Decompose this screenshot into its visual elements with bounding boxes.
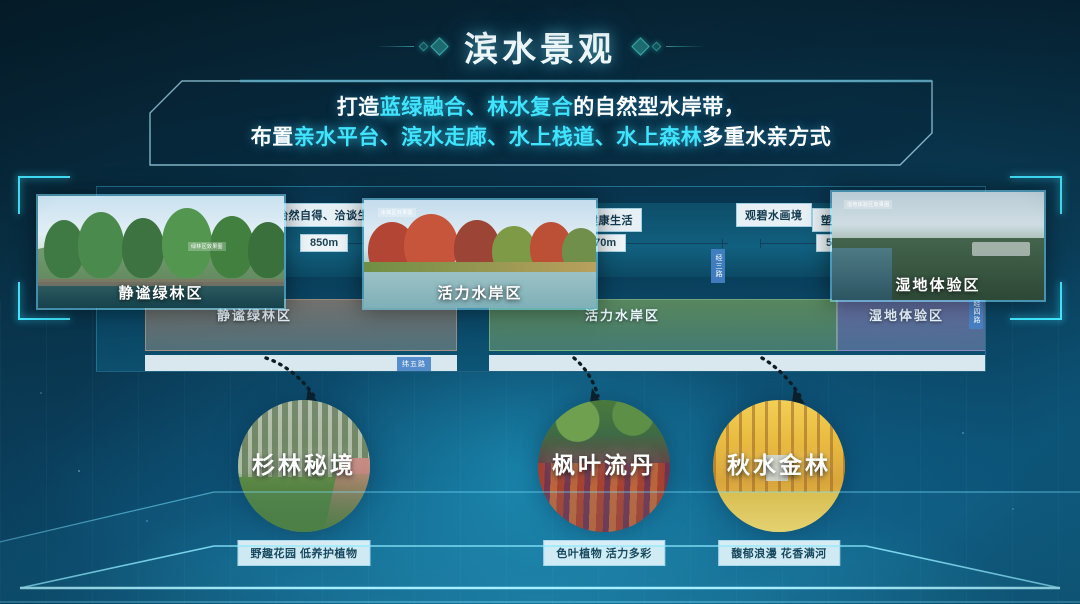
slide-stage: 滨水景观 打造蓝绿融合、林水复合的自然型水岸带， 布置亲水平台、滨水走廊、水上栈… xyxy=(0,0,1080,604)
diamond-icon xyxy=(631,37,649,55)
map-callout-3: 观碧水画境 xyxy=(736,203,812,227)
photo-card-caption: 静谧绿林区 xyxy=(38,282,284,303)
dimension-tick xyxy=(760,239,761,248)
diamond-icon xyxy=(652,41,662,51)
photo-card-green-forest[interactable]: 绿林区效果图 静谧绿林区 xyxy=(36,194,286,310)
feature-circle-title: 枫叶流丹 xyxy=(538,446,670,480)
title-row: 滨水景观 xyxy=(0,24,1080,68)
subtitle-banner: 打造蓝绿融合、林水复合的自然型水岸带， 布置亲水平台、滨水走廊、水上栈道、水上森… xyxy=(148,79,934,167)
map-road-label-weiwulu: 纬五路 xyxy=(397,357,431,371)
photo-watermark: 水岸区效果图 xyxy=(378,208,416,217)
subtitle-l2-highlight: 亲水平台、滨水走廊、水上栈道、水上森林 xyxy=(294,126,703,149)
photo-card-image: 绿林区效果图 静谧绿林区 xyxy=(36,194,286,310)
photo-card-image: 湿地体验区效果图 湿地体验区 xyxy=(830,190,1046,302)
feature-circle-title: 秋水金林 xyxy=(713,446,845,480)
photo-card-wetland[interactable]: 湿地体验区效果图 湿地体验区 xyxy=(830,190,1046,302)
feature-circle-caption: 色叶植物 活力多彩 xyxy=(543,540,665,566)
feature-circle-title: 杉林秘境 xyxy=(238,446,370,480)
dimension-tick xyxy=(722,239,723,248)
subtitle-l1-suffix: 的自然型水岸带， xyxy=(573,96,745,119)
background-speck xyxy=(146,520,148,522)
diamond-icon xyxy=(430,37,448,55)
subtitle-text: 打造蓝绿融合、林水复合的自然型水岸带， 布置亲水平台、滨水走廊、水上栈道、水上森… xyxy=(148,79,934,167)
title-decoration-right xyxy=(634,40,704,53)
subtitle-l2-prefix: 布置 xyxy=(251,126,294,149)
photo-watermark: 湿地体验区效果图 xyxy=(844,200,892,209)
dimension-850m: 850m xyxy=(300,234,348,252)
subtitle-l1-highlight: 蓝绿融合、林水复合 xyxy=(380,96,574,119)
feature-circle-caption: 馥郁浪漫 花香满河 xyxy=(718,540,840,566)
photo-card-caption: 活力水岸区 xyxy=(364,282,596,303)
feature-circle-qiushui[interactable]: 秋水金林 馥郁浪漫 花香满河 xyxy=(713,400,845,532)
map-block-right xyxy=(837,355,986,372)
background-speck xyxy=(962,432,964,434)
photo-card-vibrant-waterfront[interactable]: 水岸区效果图 活力水岸区 xyxy=(362,198,598,310)
feature-circle-fengye[interactable]: 枫叶流丹 色叶植物 活力多彩 xyxy=(538,400,670,532)
background-speck xyxy=(1012,508,1014,510)
diamond-icon xyxy=(419,41,429,51)
map-road-label-jingsanlu: 经三路 xyxy=(711,249,725,283)
photo-watermark: 绿林区效果图 xyxy=(188,242,226,251)
photo-card-caption: 湿地体验区 xyxy=(832,274,1044,295)
map-zone-label-c: 湿地体验区 xyxy=(869,305,944,324)
title-decoration-left xyxy=(376,40,446,53)
feature-circle-caption: 野趣花园 低养护植物 xyxy=(237,540,370,566)
subtitle-line-2: 布置亲水平台、滨水走廊、水上栈道、水上森林多重水亲方式 xyxy=(251,125,832,152)
background-speck xyxy=(78,470,80,472)
background-speck xyxy=(40,392,42,394)
subtitle-l2-suffix: 多重水亲方式 xyxy=(702,126,831,149)
photo-card-image: 水岸区效果图 活力水岸区 xyxy=(362,198,598,310)
subtitle-line-1: 打造蓝绿融合、林水复合的自然型水岸带， xyxy=(337,95,746,122)
page-title: 滨水景观 xyxy=(464,22,616,71)
feature-circle-shanlin[interactable]: 杉林秘境 野趣花园 低养护植物 xyxy=(238,400,370,532)
subtitle-l1-prefix: 打造 xyxy=(337,96,380,119)
